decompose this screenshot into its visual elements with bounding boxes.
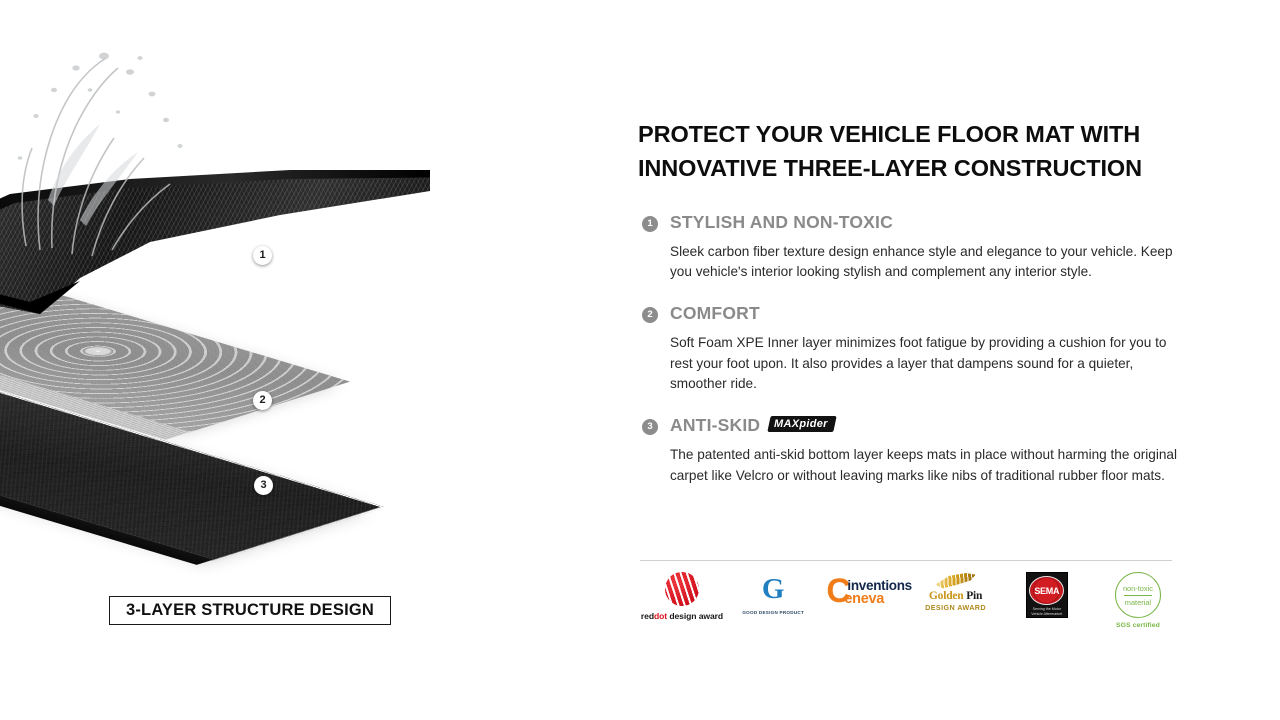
reddot-word-red: red (641, 611, 654, 621)
callout-badge-2: 2 (253, 391, 272, 410)
sema-badge: SEMA Serving the Motor Vehicle Aftermark… (1026, 572, 1068, 618)
structure-caption-box: 3-LAYER STRUCTURE DESIGN (109, 596, 391, 625)
feature-body-3: The patented anti-skid bottom layer keep… (670, 445, 1178, 486)
reddot-sphere-icon (665, 572, 699, 606)
feature-title-2-label: COMFORT (670, 303, 760, 324)
award-logo-sema: SEMA Serving the Motor Vehicle Aftermark… (1005, 570, 1089, 618)
reddot-label: reddot design award (640, 611, 724, 621)
page-title: PROTECT YOUR VEHICLE FLOOR MAT WITH INNO… (638, 118, 1178, 186)
sgs-certified-label: SGS certified (1096, 622, 1180, 629)
structure-caption-label: 3-LAYER STRUCTURE DESIGN (126, 601, 374, 620)
award-logos-row: reddot design award G GOOD DESIGN PRODUC… (640, 570, 1180, 640)
feature-title-2: COMFORT (670, 303, 1178, 324)
sema-tagline: Serving the Motor Vehicle Aftermarket (1027, 607, 1067, 617)
non-toxic-line-2: material (1125, 598, 1151, 607)
award-logo-good-design: G GOOD DESIGN PRODUCT (731, 570, 815, 615)
feature-title-1-label: STYLISH AND NON-TOXIC (670, 212, 893, 233)
feature-item-2: 2 COMFORT Soft Foam XPE Inner layer mini… (638, 303, 1178, 395)
inventions-geneva-word-bottom: eneva (844, 591, 884, 607)
product-illustration: 1 2 3 3-LAYER STRUCTURE DESIGN (0, 0, 620, 720)
headline-line-1: PROTECT YOUR VEHICLE FLOOR MAT WITH (638, 118, 1178, 152)
golden-pin-feather-icon (936, 573, 976, 589)
feature-title-1: STYLISH AND NON-TOXIC (670, 212, 1178, 233)
maxpider-brand-label: MAXpider (774, 418, 828, 430)
maxpider-brand-logo: MAXpider (768, 416, 837, 432)
non-toxic-line-1: non-toxic (1123, 584, 1153, 593)
award-logo-golden-pin: Golden Pin DESIGN AWARD (914, 570, 998, 612)
feature-item-3: 3 ANTI-SKID MAXpider The patented anti-s… (638, 415, 1178, 486)
award-logo-non-toxic: non-toxic material SGS certified (1096, 570, 1180, 629)
feature-title-3-label: ANTI-SKID (670, 415, 760, 436)
feature-badge-2: 2 (642, 307, 658, 323)
good-design-label: GOOD DESIGN PRODUCT (731, 610, 815, 615)
feature-body-1: Sleek carbon fiber texture design enhanc… (670, 242, 1178, 283)
golden-pin-label: Golden Pin (914, 590, 998, 602)
reddot-word-dot: dot (654, 611, 667, 621)
golden-pin-word-dark: Pin (966, 590, 982, 602)
feature-badge-3: 3 (642, 419, 658, 435)
reddot-word-tail: design award (667, 611, 723, 621)
infographic-page: 1 2 3 3-LAYER STRUCTURE DESIGN PROTECT Y… (0, 0, 1280, 720)
feature-title-3: ANTI-SKID MAXpider (670, 415, 1178, 436)
feature-badge-1: 1 (642, 216, 658, 232)
award-logo-inventions-geneva: C inventions eneva (822, 570, 906, 612)
good-design-mark-icon: G (757, 574, 789, 604)
callout-badge-3: 3 (254, 476, 273, 495)
non-toxic-circle-icon: non-toxic material (1115, 572, 1161, 618)
golden-pin-word-gold: Golden (929, 590, 964, 602)
award-logo-reddot: reddot design award (640, 570, 724, 621)
inventions-geneva-lockup: C inventions eneva (822, 572, 906, 612)
text-column: PROTECT YOUR VEHICLE FLOOR MAT WITH INNO… (638, 118, 1178, 506)
feature-body-2: Soft Foam XPE Inner layer minimizes foot… (670, 333, 1178, 395)
section-divider (640, 560, 1172, 561)
mat-stack: 1 2 3 (0, 20, 590, 600)
callout-badge-1: 1 (253, 246, 272, 265)
non-toxic-divider (1124, 595, 1152, 596)
golden-pin-caption: DESIGN AWARD (914, 603, 998, 612)
carbon-fiber-top-layer (0, 170, 430, 320)
headline-line-2: INNOVATIVE THREE-LAYER CONSTRUCTION (638, 152, 1178, 186)
feature-item-1: 1 STYLISH AND NON-TOXIC Sleek carbon fib… (638, 212, 1178, 283)
sema-seal-icon: SEMA (1029, 576, 1064, 605)
